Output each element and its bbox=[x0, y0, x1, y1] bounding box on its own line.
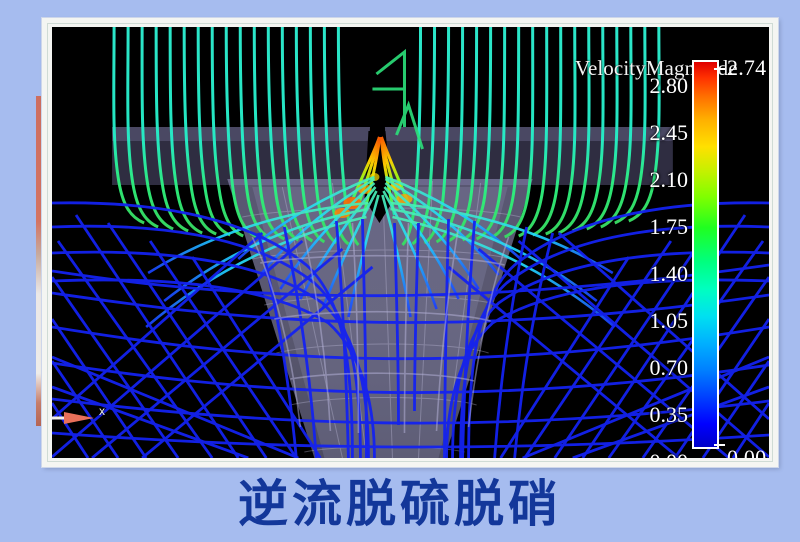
picture-frame: VelocityMagnitude 2.80 2.45 2.10 1.75 1.… bbox=[42, 18, 778, 467]
poster-caption: 逆流脱硫脱硝 bbox=[0, 474, 800, 534]
streamline-plot bbox=[52, 27, 769, 458]
cfd-render-scene: VelocityMagnitude 2.80 2.45 2.10 1.75 1.… bbox=[52, 27, 769, 458]
poster-canvas: VelocityMagnitude 2.80 2.45 2.10 1.75 1.… bbox=[0, 0, 800, 542]
